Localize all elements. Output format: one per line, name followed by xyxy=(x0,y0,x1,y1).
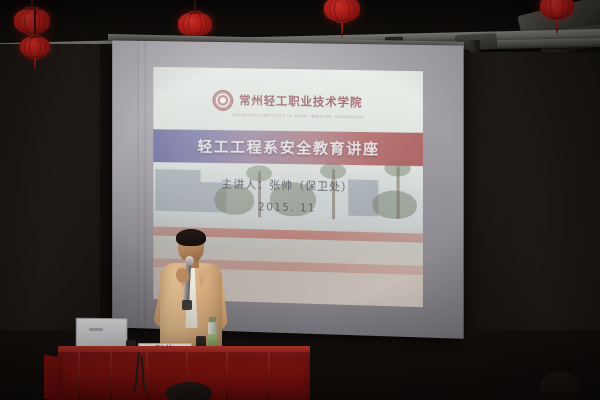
lantern-icon xyxy=(20,36,50,58)
bottle-label xyxy=(208,334,217,346)
cloth-fold xyxy=(110,352,112,400)
slide-title: 轻工工程系安全教育讲座 xyxy=(197,136,379,160)
lantern-icon xyxy=(540,0,574,19)
audience-head xyxy=(166,382,212,400)
lantern-icon xyxy=(178,12,212,37)
microphone-capsule xyxy=(185,256,194,266)
lantern-cap-top xyxy=(189,11,201,14)
lantern-tassel xyxy=(341,22,343,38)
lantern-tassel xyxy=(34,58,36,72)
cloth-fold xyxy=(78,352,80,400)
lantern-body xyxy=(14,8,50,34)
laptop-logo xyxy=(89,328,103,331)
cloth-fold xyxy=(268,352,270,400)
slide-title-band: 轻工工程系安全教育讲座 xyxy=(153,129,423,166)
speaker-hair xyxy=(176,229,206,246)
table-cloth-edge xyxy=(44,354,62,400)
palm-fronds xyxy=(320,163,346,180)
audience-shoulder xyxy=(520,392,600,400)
lantern-tassel xyxy=(556,19,558,35)
microphone-base xyxy=(182,300,192,310)
cloth-fold xyxy=(226,352,228,400)
lantern-cap-top xyxy=(26,7,39,10)
school-name: 常州轻工职业技术学院 xyxy=(239,94,362,109)
lecture-hall-photo: 常州轻工职业技术学院 CHANGZHOU INSTITUTE OF LIGHT … xyxy=(0,0,600,400)
lantern-cap-top xyxy=(30,35,41,38)
lantern-icon xyxy=(14,8,50,34)
cloth-fold xyxy=(146,352,148,400)
school-crest-icon xyxy=(212,90,233,111)
screen-streak xyxy=(138,41,139,328)
wall-right xyxy=(455,52,600,377)
lantern-icon xyxy=(324,0,360,22)
lantern-body xyxy=(540,0,574,19)
lantern-body xyxy=(20,36,50,58)
lantern-body xyxy=(178,12,212,37)
screen-streak xyxy=(144,41,145,328)
lantern-cord xyxy=(34,10,36,38)
lantern-body xyxy=(324,0,360,22)
